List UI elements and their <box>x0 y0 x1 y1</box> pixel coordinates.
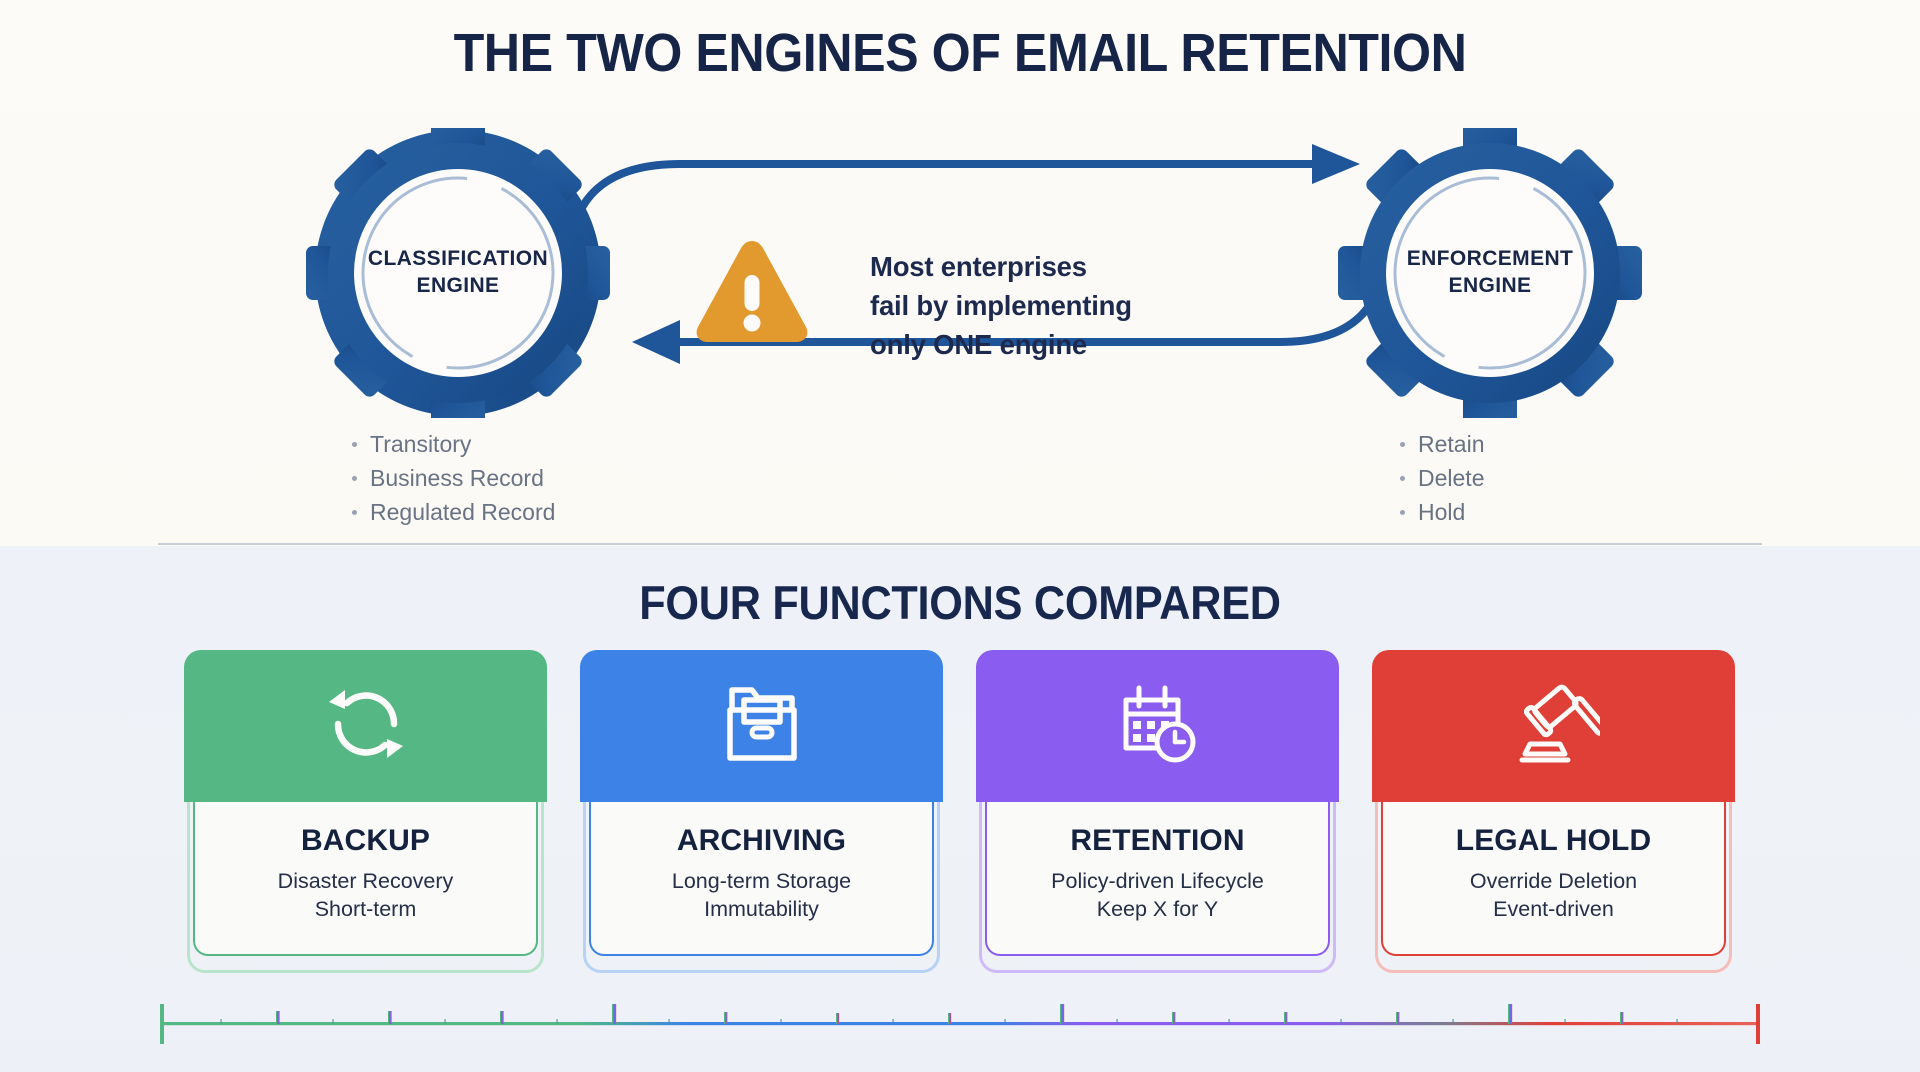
card-subtitle: Policy-driven Lifecycle Keep X for Y <box>1051 867 1264 924</box>
bullet-dot-icon <box>1400 510 1405 515</box>
list-item-label: Hold <box>1418 496 1465 530</box>
function-card-retention[interactable]: RETENTION Policy-driven Lifecycle Keep X… <box>976 650 1339 975</box>
gavel-icon <box>1508 678 1600 775</box>
card-title: BACKUP <box>301 824 430 858</box>
card-subtitle: Disaster Recovery Short-term <box>278 867 454 924</box>
card-subtitle-line2: Immutability <box>672 895 851 923</box>
card-body: LEGAL HOLD Override Deletion Event-drive… <box>1381 802 1726 956</box>
classification-outputs-list: Transitory Business Record Regulated Rec… <box>352 428 555 529</box>
card-body: BACKUP Disaster Recovery Short-term <box>193 802 538 956</box>
card-body: RETENTION Policy-driven Lifecycle Keep X… <box>985 802 1330 956</box>
infographic-canvas: THE TWO ENGINES OF EMAIL RETENTION <box>0 0 1920 1072</box>
function-card-archiving[interactable]: ARCHIVING Long-term Storage Immutability <box>580 650 943 975</box>
warning-triangle-icon <box>692 235 812 347</box>
card-title: LEGAL HOLD <box>1456 824 1651 858</box>
list-item-label: Delete <box>1418 462 1484 496</box>
function-cards-row: BACKUP Disaster Recovery Short-term <box>184 650 1740 975</box>
warning-line-1: Most enterprises <box>870 248 1250 287</box>
list-item-label: Regulated Record <box>370 496 555 530</box>
list-item: Hold <box>1400 496 1484 530</box>
card-subtitle-line2: Short-term <box>278 895 454 923</box>
warning-line-2: fail by implementing <box>870 287 1250 326</box>
list-item: Business Record <box>352 462 555 496</box>
bullet-dot-icon <box>352 442 357 447</box>
function-card-legal-hold[interactable]: LEGAL HOLD Override Deletion Event-drive… <box>1372 650 1735 975</box>
warning-message: Most enterprises fail by implementing on… <box>870 248 1250 364</box>
section-divider <box>158 543 1762 545</box>
card-subtitle-line1: Policy-driven Lifecycle <box>1051 867 1264 895</box>
card-subtitle-line1: Override Deletion <box>1470 867 1637 895</box>
archive-box-icon <box>716 678 808 775</box>
list-item-label: Retain <box>1418 428 1484 462</box>
card-title: ARCHIVING <box>677 824 846 858</box>
sync-arrows-icon <box>320 678 412 775</box>
card-header <box>580 650 943 802</box>
list-item-label: Business Record <box>370 462 544 496</box>
list-item-label: Transitory <box>370 428 471 462</box>
bullet-dot-icon <box>1400 476 1405 481</box>
card-header <box>184 650 547 802</box>
card-subtitle-line2: Keep X for Y <box>1051 895 1264 923</box>
card-subtitle-line1: Disaster Recovery <box>278 867 454 895</box>
section-heading: FOUR FUNCTIONS COMPARED <box>77 575 1843 630</box>
card-subtitle-line1: Long-term Storage <box>672 867 851 895</box>
warning-line-3: only ONE engine <box>870 326 1250 365</box>
list-item: Delete <box>1400 462 1484 496</box>
list-item: Retain <box>1400 428 1484 462</box>
function-card-backup[interactable]: BACKUP Disaster Recovery Short-term <box>184 650 547 975</box>
calendar-clock-icon <box>1112 678 1204 775</box>
classification-engine-gear: CLASSIFICATION ENGINE <box>288 128 628 418</box>
card-subtitle: Override Deletion Event-driven <box>1470 867 1637 924</box>
card-title: RETENTION <box>1070 824 1244 858</box>
page-title: THE TWO ENGINES OF EMAIL RETENTION <box>67 22 1853 84</box>
card-header <box>976 650 1339 802</box>
card-body: ARCHIVING Long-term Storage Immutability <box>589 802 934 956</box>
card-subtitle-line2: Event-driven <box>1470 895 1637 923</box>
card-subtitle: Long-term Storage Immutability <box>672 867 851 924</box>
enforcement-actions-list: Retain Delete Hold <box>1400 428 1484 529</box>
bullet-dot-icon <box>352 510 357 515</box>
card-header <box>1372 650 1735 802</box>
list-item: Transitory <box>352 428 555 462</box>
enforcement-engine-gear: ENFORCEMENT ENGINE <box>1320 128 1660 418</box>
list-item: Regulated Record <box>352 496 555 530</box>
measurement-scale-icon <box>160 1000 1760 1048</box>
bullet-dot-icon <box>352 476 357 481</box>
bullet-dot-icon <box>1400 442 1405 447</box>
